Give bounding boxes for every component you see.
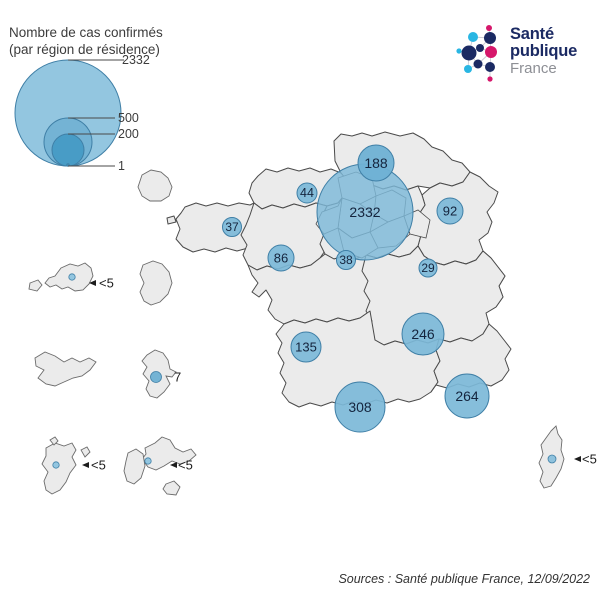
bubble-label-grand-est: 92 xyxy=(443,204,457,219)
territory-label-nouvelle-caledonie: <5 xyxy=(91,458,106,473)
bubble-label-pays-de-la-loire: 86 xyxy=(274,251,288,266)
territory-dot-guadeloupe[interactable] xyxy=(69,274,75,280)
territory-mayotte[interactable] xyxy=(35,352,96,386)
infographic-canvas: Nombre de cas confirmés (par région de r… xyxy=(0,0,600,600)
territory-marker-nc xyxy=(82,462,89,468)
bubble-label-occitanie: 308 xyxy=(348,399,372,415)
territory-la-reunion[interactable] xyxy=(138,170,172,201)
bubble-label-nouvelle-aquitaine: 135 xyxy=(295,340,317,355)
territory-dot-mayotte[interactable] xyxy=(145,458,151,464)
territory-dot-nouvelle-caledonie[interactable] xyxy=(53,462,59,468)
bubble-label-bretagne: 37 xyxy=(225,220,239,234)
territory-marker-corse xyxy=(574,456,581,462)
territory-marker-mayotte xyxy=(170,462,177,468)
territory-guyane[interactable] xyxy=(140,261,172,305)
bubble-label-ile-de-france: 2332 xyxy=(349,204,380,220)
bubble-label-normandie: 44 xyxy=(300,186,314,200)
territory-guadeloupe-islet[interactable] xyxy=(29,280,42,291)
territory-nouvelle-caledonie[interactable] xyxy=(42,443,76,494)
bubble-label-centre-val-de-loire: 38 xyxy=(339,253,353,267)
source-note: Sources : Santé publique France, 12/09/2… xyxy=(338,572,590,586)
territory-label-corse: <5 xyxy=(582,452,597,467)
territory-label-mayotte: <5 xyxy=(178,458,193,473)
bubble-label-hauts-de-france: 188 xyxy=(364,155,388,171)
territory-dot-martinique[interactable] xyxy=(151,372,162,383)
territory-polynesie-west[interactable] xyxy=(124,449,145,484)
territory-dot-corse[interactable] xyxy=(548,455,556,463)
territory-label-martinique: 7 xyxy=(174,370,181,385)
bubble-label-paca: 264 xyxy=(455,388,479,404)
territory-nc-islet2[interactable] xyxy=(81,447,90,457)
bubble-label-bourgogne-franche-comte: 29 xyxy=(421,261,435,275)
territory-label-guadeloupe: <5 xyxy=(99,276,114,291)
territory-polynesie-islet[interactable] xyxy=(163,481,180,495)
france-choropleth-map: <5 7 <5 <5 <5 2332 308 264 246 188 135 9… xyxy=(0,0,600,600)
bubble-label-auvergne-rhone-alpes: 246 xyxy=(411,326,435,342)
